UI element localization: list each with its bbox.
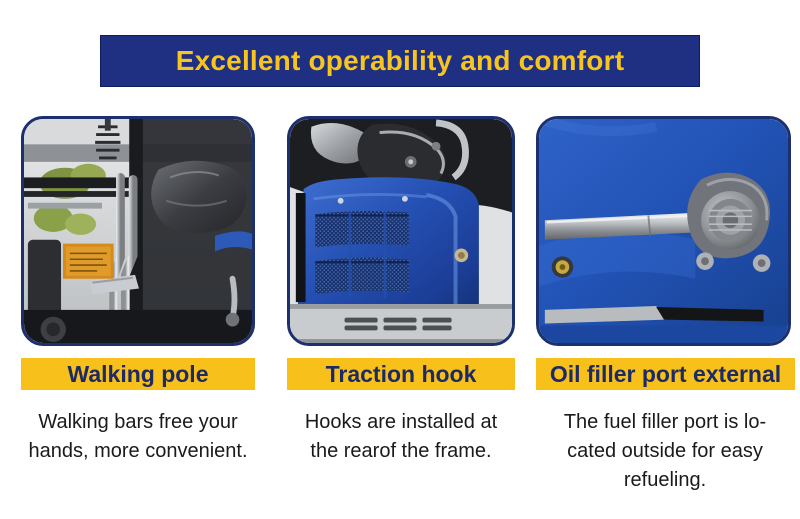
caption-line: hands, more convenient. xyxy=(9,437,267,466)
walking-pole-photo-frame xyxy=(21,116,255,346)
caption-traction-hook: Hooks are installed at the rearof the fr… xyxy=(281,408,521,466)
caption-line: Walking bars free your xyxy=(9,408,267,437)
traction-hook-photo-illustration xyxy=(290,119,512,343)
label-text-traction-hook: Traction hook xyxy=(326,363,477,386)
walking-pole-photo xyxy=(24,119,252,343)
caption-walking-pole: Walking bars free your hands, more conve… xyxy=(9,408,267,466)
label-text-oil-filler-port: Oil filler port external xyxy=(550,363,781,386)
label-bar-oil-filler-port: Oil filler port external xyxy=(536,358,795,390)
walking-pole-photo-illustration xyxy=(24,119,252,343)
caption-line: Hooks are installed at xyxy=(281,408,521,437)
label-bar-walking-pole: Walking pole xyxy=(21,358,255,390)
oil-filler-port-photo-frame xyxy=(536,116,791,346)
caption-line: cated outside for easy xyxy=(534,437,796,466)
oil-filler-port-photo xyxy=(539,119,788,343)
label-bar-traction-hook: Traction hook xyxy=(287,358,515,390)
feature-panel-walking-pole: Walking pole Walking bars free your hand… xyxy=(21,116,259,466)
caption-line: The fuel filler port is lo- xyxy=(534,408,796,437)
page-title: Excellent operability and comfort xyxy=(176,47,624,75)
traction-hook-photo xyxy=(290,119,512,343)
oil-filler-port-photo-illustration xyxy=(539,119,788,343)
caption-line: the rearof the frame. xyxy=(281,437,521,466)
feature-panel-traction-hook: Traction hook Hooks are installed at the… xyxy=(287,116,519,466)
feature-panel-oil-filler-port: Oil filler port external The fuel filler… xyxy=(536,116,795,495)
caption-oil-filler-port: The fuel filler port is lo- cated outsid… xyxy=(534,408,796,495)
traction-hook-photo-frame xyxy=(287,116,515,346)
page-title-banner: Excellent operability and comfort xyxy=(100,35,700,87)
label-text-walking-pole: Walking pole xyxy=(68,363,209,386)
caption-line: refueling. xyxy=(534,466,796,495)
